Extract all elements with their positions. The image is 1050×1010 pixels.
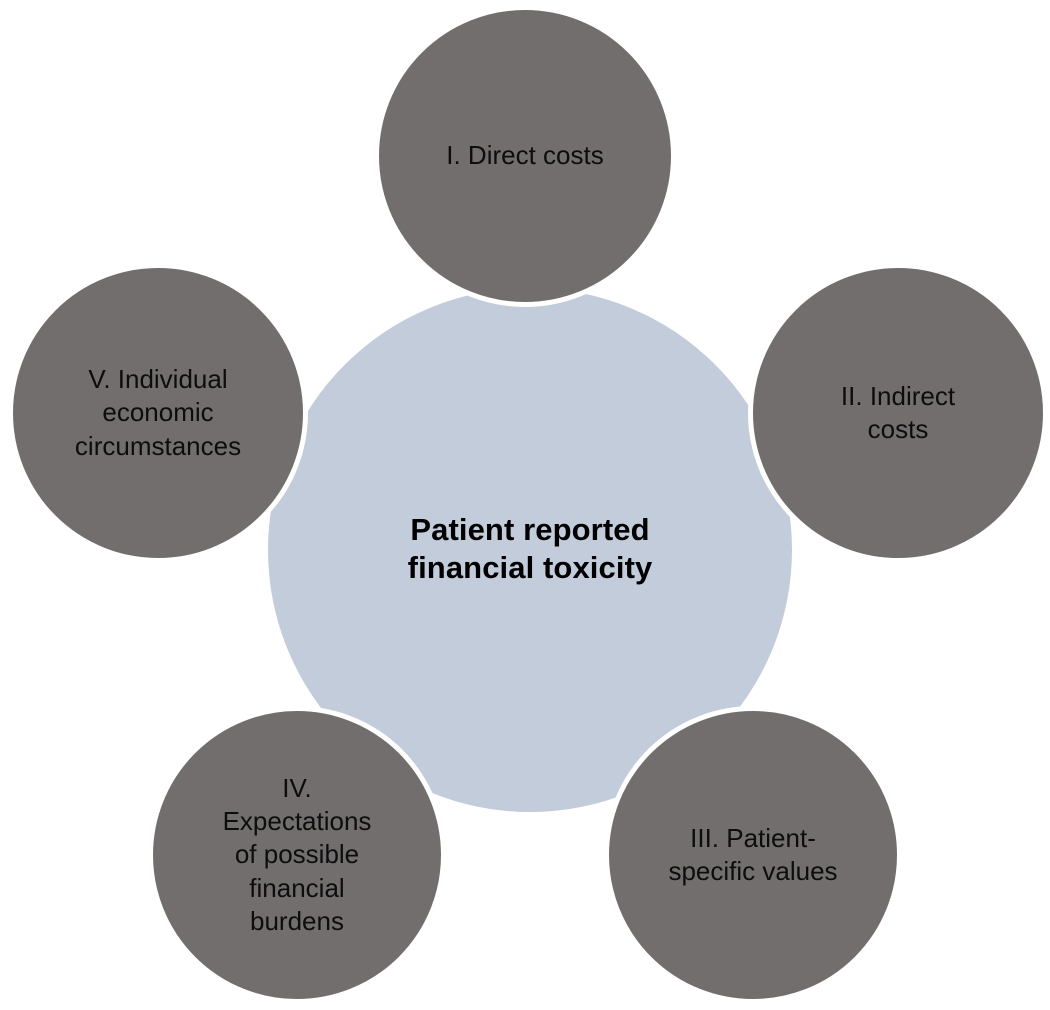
node-label-direct-costs: I. Direct costs (432, 139, 617, 172)
node-label-patient-specific-values: III. Patient- specific values (654, 822, 851, 889)
node-label-expectations-of-possible-financial-burdens: IV. Expectations of possible financial b… (209, 772, 386, 938)
diagram-canvas: Patient reported financial toxicity I. D… (0, 0, 1050, 1010)
node-label-indirect-costs: II. Indirect costs (827, 380, 969, 447)
node-patient-specific-values: III. Patient- specific values (604, 706, 902, 1004)
node-direct-costs: I. Direct costs (374, 5, 676, 307)
node-indirect-costs: II. Indirect costs (748, 263, 1048, 563)
node-label-individual-economic-circumstances: V. Individual economic circumstances (61, 363, 255, 463)
node-expectations-of-possible-financial-burdens: IV. Expectations of possible financial b… (148, 706, 446, 1004)
hub-label: Patient reported financial toxicity (408, 511, 653, 589)
node-individual-economic-circumstances: V. Individual economic circumstances (8, 263, 308, 563)
